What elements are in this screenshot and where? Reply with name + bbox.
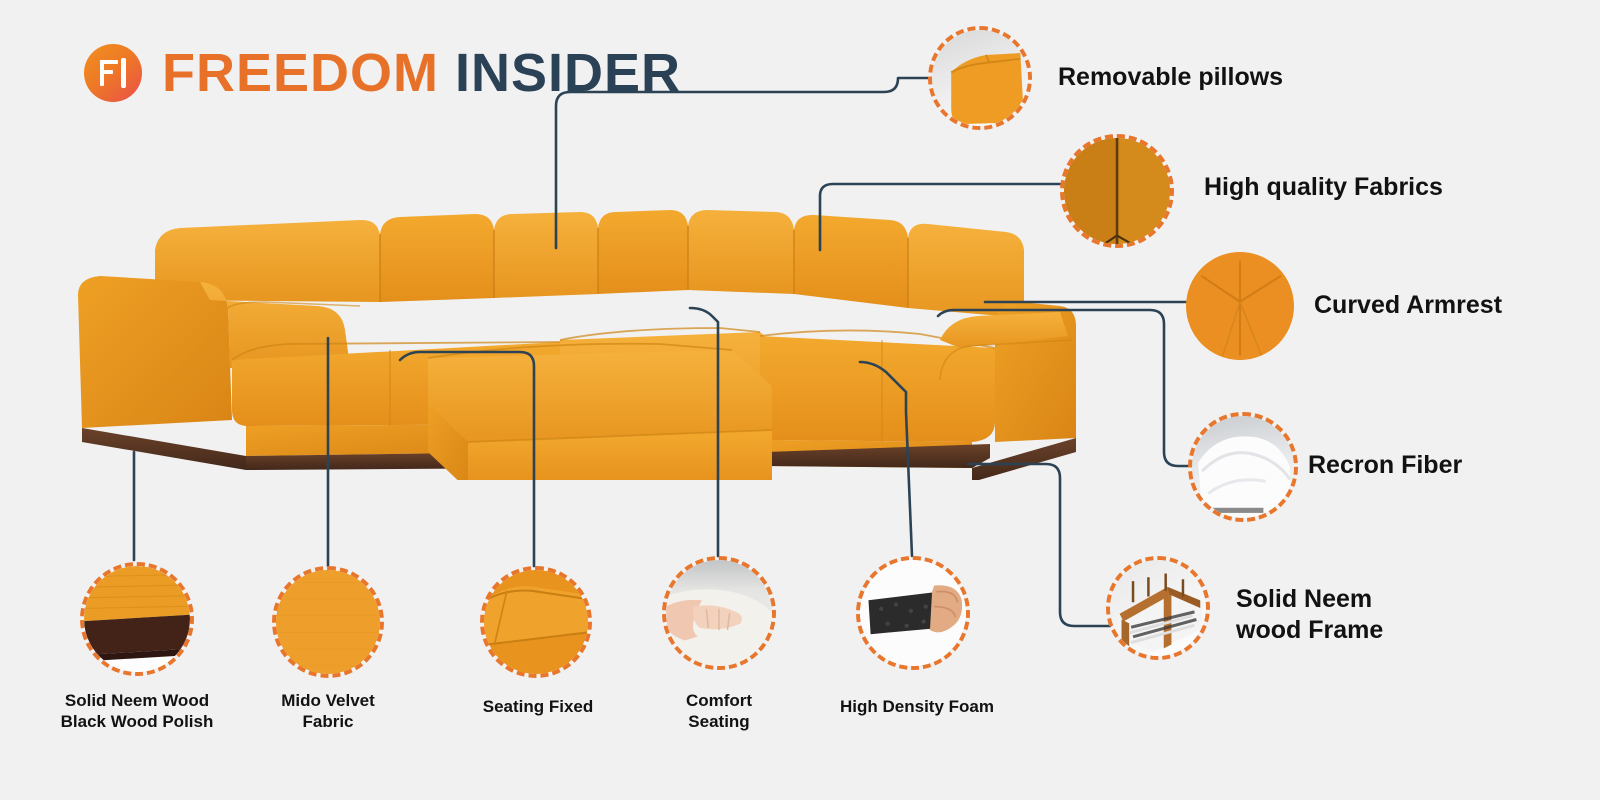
connector-solid-neem-wood-frame xyxy=(968,464,1110,626)
callout-bubble-recron-fiber[interactable] xyxy=(1188,412,1298,522)
curved-armrest-fabric-closeup-icon xyxy=(1186,252,1294,360)
label-high-density-foam: High Density Foam xyxy=(840,696,994,717)
plain-orange-velvet-swatch-icon xyxy=(276,570,380,674)
label-seating-fixed: Seating Fixed xyxy=(483,696,594,717)
fabric-over-dark-wood-band-icon xyxy=(84,566,190,672)
callout-bubble-high-quality-fabrics[interactable] xyxy=(1060,134,1174,248)
sectional-sofa-illustration xyxy=(60,190,1100,480)
brand-word-insider: INSIDER xyxy=(455,43,681,103)
callout-bubble-mido-velvet[interactable] xyxy=(272,566,384,678)
wooden-sofa-frame-photo-icon xyxy=(1110,560,1206,656)
label-curved-armrest: Curved Armrest xyxy=(1314,290,1502,321)
callout-bubble-high-density-foam[interactable] xyxy=(856,556,970,670)
callout-bubble-seating-fixed[interactable] xyxy=(480,566,592,678)
brand-word-freedom: FREEDOM xyxy=(162,43,439,103)
callout-bubble-removable-pillows[interactable] xyxy=(928,26,1032,130)
fixed-seat-corner-closeup-icon xyxy=(484,570,588,674)
sofa-back-cushion-photo-icon xyxy=(932,30,1028,126)
infographic-canvas: FREEDOMINSIDER xyxy=(0,0,1600,800)
hand-pressing-foam-photo-icon xyxy=(666,560,772,666)
callout-bubble-solid-neem-wood-frame[interactable] xyxy=(1106,556,1210,660)
freedom-logo-icon xyxy=(84,44,142,102)
label-recron-fiber: Recron Fiber xyxy=(1308,450,1462,481)
callout-bubble-comfort-seating[interactable] xyxy=(662,556,776,670)
white-fiber-fill-photo-icon xyxy=(1192,416,1294,518)
callout-bubble-curved-armrest[interactable] xyxy=(1186,252,1294,360)
callout-bubble-solid-neem-wood[interactable] xyxy=(80,562,194,676)
label-removable-pillows: Removable pillows xyxy=(1058,62,1283,93)
label-solid-neem-wood: Solid Neem Wood Black Wood Polish xyxy=(61,690,214,733)
hand-holding-black-foam-photo-icon xyxy=(860,560,966,666)
label-comfort-seating: Comfort Seating xyxy=(686,690,752,733)
label-high-quality-fabrics: High quality Fabrics xyxy=(1204,172,1443,203)
orange-fabric-seam-closeup-icon xyxy=(1064,138,1170,244)
page-title: FREEDOMINSIDER xyxy=(162,46,681,100)
label-mido-velvet: Mido Velvet Fabric xyxy=(281,690,375,733)
label-solid-neem-wood-frame: Solid Neem wood Frame xyxy=(1236,584,1383,647)
brand-header: FREEDOMINSIDER xyxy=(84,44,681,102)
